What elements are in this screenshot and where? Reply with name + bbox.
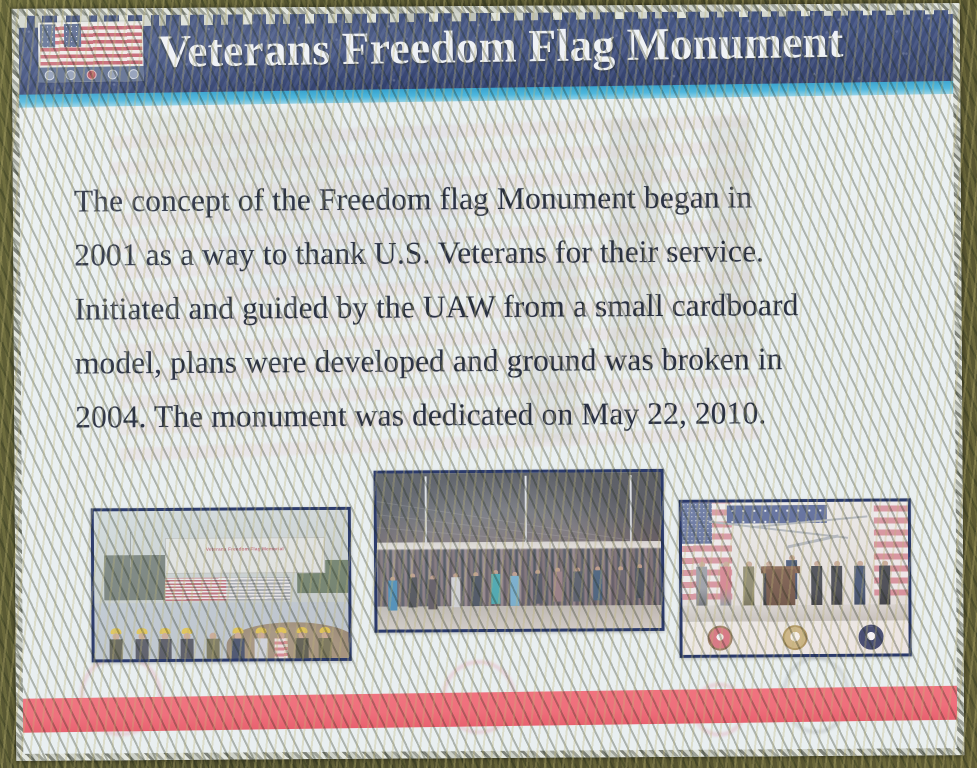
flag-logo-mini-seal-4	[107, 69, 117, 79]
photo2-person	[553, 568, 562, 602]
photo2-person	[408, 574, 417, 608]
photo2-ground	[377, 605, 661, 630]
navy-seal-icon	[858, 624, 883, 649]
photo2-person	[573, 568, 582, 602]
photo1-memorial-banner: Veterans Freedom Flag Memorial	[165, 537, 325, 574]
photo1-dirt-mound	[227, 622, 352, 662]
photo1-pole	[129, 532, 130, 568]
body-line-1: The concept of the Freedom flag Monument…	[74, 169, 934, 228]
photo3-person	[854, 561, 865, 605]
flag-logo-mini-seal-3	[86, 69, 96, 79]
photo2-person	[636, 564, 645, 598]
photo3-person	[831, 561, 842, 605]
photo2-person	[616, 566, 625, 600]
body-line-3: Initiated and guided by the UAW from a s…	[74, 277, 934, 336]
dedication-stage-photo	[679, 498, 912, 657]
photo3-stage-floor	[682, 605, 908, 622]
footer-color-band	[18, 685, 959, 733]
photo3-person	[721, 562, 732, 606]
photo2-person	[593, 566, 602, 600]
flag-logo-seal-bar	[39, 66, 144, 83]
photo2-person	[428, 575, 437, 609]
dedication-crowd-photo	[374, 469, 665, 633]
outdoor-background: ★ ★ ★ ★ ★ ★ ★ ★ ★ ★ ★ ★ ★ ★	[0, 0, 977, 768]
flag-logo-stripe-panel-4	[116, 23, 143, 64]
flag-logo-mini-seal-5	[128, 69, 138, 79]
photo1-left-structure	[104, 555, 165, 600]
flag-logo-canton-1	[40, 24, 55, 47]
flag-logo-canton-2	[64, 24, 81, 47]
flag-logo-mini-seal-2	[65, 70, 75, 80]
photo2-person	[471, 572, 480, 606]
body-line-4: model, plans were developed and ground w…	[75, 331, 935, 390]
air-force-seal-icon	[783, 625, 808, 650]
veterans-freedom-flag-monument-sign: ★ ★ ★ ★ ★ ★ ★ ★ ★ ★ ★ ★ ★ ★	[12, 3, 965, 761]
photo3-person	[811, 561, 822, 605]
photo1-banner-subtext	[179, 556, 311, 560]
photo1-banner-flag-left	[165, 577, 229, 601]
photo2-person	[451, 573, 460, 607]
photo2-person	[533, 570, 542, 604]
photo3-service-seals	[682, 620, 908, 655]
photo1-banner-title: Veterans Freedom Flag Memorial	[172, 547, 317, 553]
sign-title: Veterans Freedom Flag Monument	[158, 9, 951, 83]
photo3-person	[696, 562, 707, 606]
sign-body-text: The concept of the Freedom flag Monument…	[74, 169, 936, 444]
flag-logo-mini-seal-1	[44, 70, 54, 80]
body-line-5: 2004. The monument was dedicated on May …	[75, 385, 935, 444]
sign-face: ★ ★ ★ ★ ★ ★ ★ ★ ★ ★ ★ ★ ★ ★	[18, 9, 959, 755]
photo2-person	[511, 571, 520, 605]
body-line-2: 2001 as a way to thank U.S. Veterans for…	[74, 223, 934, 282]
photo3-person	[743, 562, 754, 606]
marines-seal-icon	[708, 625, 733, 650]
photo1-banner-flag-right	[226, 577, 290, 601]
american-flag-logo	[38, 21, 144, 83]
photo3-person	[879, 561, 890, 605]
groundbreaking-ceremony-photo: Veterans Freedom Flag Memorial	[91, 507, 352, 663]
photo2-person	[491, 570, 500, 604]
photo2-person	[389, 577, 398, 611]
